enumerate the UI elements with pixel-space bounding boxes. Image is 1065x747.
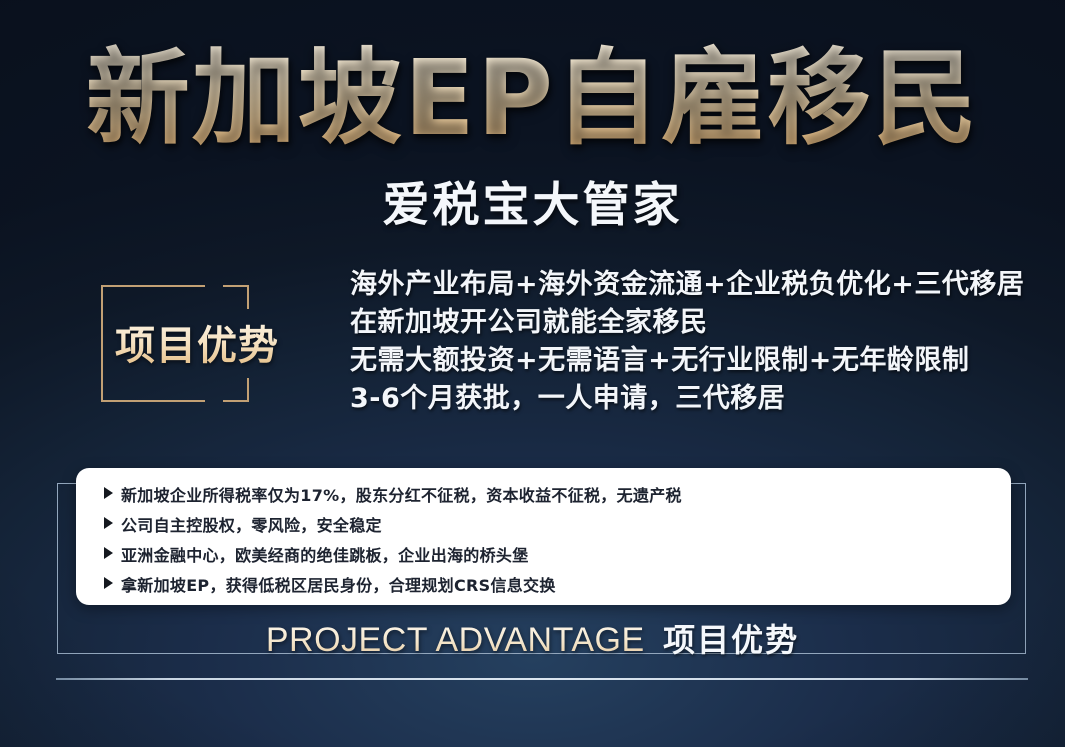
badge-bracket-top-edge bbox=[101, 285, 205, 287]
badge-bracket-top-right-horizontal bbox=[223, 285, 249, 287]
badge-bracket-left-edge bbox=[101, 285, 103, 402]
poster-canvas: 新加坡EP自雇移民 爱税宝大管家 项目优势 海外产业布局+海外资金流通+企业税负… bbox=[0, 0, 1065, 747]
triangle-right-icon bbox=[104, 517, 113, 529]
triangle-right-icon bbox=[104, 487, 113, 499]
page-title: 新加坡EP自雇移民 bbox=[0, 42, 1065, 154]
feature-line: 无需大额投资+无需语言+无行业限制+无年龄限制 bbox=[350, 342, 1030, 380]
badge-bracket-top-right-vertical bbox=[247, 285, 249, 309]
badge-label: 项目优势 bbox=[115, 313, 290, 371]
list-item-label: 拿新加坡EP，获得低税区居民身份，合理规划CRS信息交换 bbox=[121, 572, 556, 596]
feature-line: 海外产业布局+海外资金流通+企业税负优化+三代移居 bbox=[350, 266, 1030, 304]
badge-bracket-bottom-right-vertical bbox=[247, 378, 249, 402]
list-item-label: 亚洲金融中心，欧美经商的绝佳跳板，企业出海的桥头堡 bbox=[121, 542, 529, 566]
badge-bracket-bottom-right-horizontal bbox=[223, 400, 249, 402]
list-item: 亚洲金融中心，欧美经商的绝佳跳板，企业出海的桥头堡 bbox=[104, 542, 1011, 572]
list-item: 新加坡企业所得税率仅为17%，股东分红不征税，资本收益不征税，无遗产税 bbox=[104, 482, 1011, 512]
badge-bracket-bottom-edge bbox=[101, 400, 205, 402]
triangle-right-icon bbox=[104, 577, 113, 589]
title-block: 新加坡EP自雇移民 爱税宝大管家 bbox=[0, 42, 1065, 235]
list-item: 拿新加坡EP，获得低税区居民身份，合理规划CRS信息交换 bbox=[104, 572, 1011, 602]
footer-chinese-label: 项目优势 bbox=[663, 621, 799, 659]
page-subtitle: 爱税宝大管家 bbox=[0, 166, 1065, 235]
list-item-label: 新加坡企业所得税率仅为17%，股东分红不征税，资本收益不征税，无遗产税 bbox=[121, 482, 682, 506]
list-item: 公司自主控股权，零风险，安全稳定 bbox=[104, 512, 1011, 542]
triangle-right-icon bbox=[104, 547, 113, 559]
footer-caption: PROJECT ADVANTAGE 项目优势 bbox=[0, 615, 1065, 661]
advantages-card: 新加坡企业所得税率仅为17%，股东分红不征税，资本收益不征税，无遗产税 公司自主… bbox=[76, 468, 1011, 605]
project-advantage-badge: 项目优势 bbox=[101, 285, 249, 402]
footer-english-label: PROJECT ADVANTAGE bbox=[266, 621, 645, 659]
list-item-label: 公司自主控股权，零风险，安全稳定 bbox=[121, 512, 382, 536]
bottom-divider bbox=[56, 678, 1028, 680]
feature-line: 3-6个月获批，一人申请，三代移居 bbox=[350, 380, 1030, 418]
feature-list: 海外产业布局+海外资金流通+企业税负优化+三代移居 在新加坡开公司就能全家移民 … bbox=[350, 266, 1030, 418]
feature-line: 在新加坡开公司就能全家移民 bbox=[350, 304, 1030, 342]
